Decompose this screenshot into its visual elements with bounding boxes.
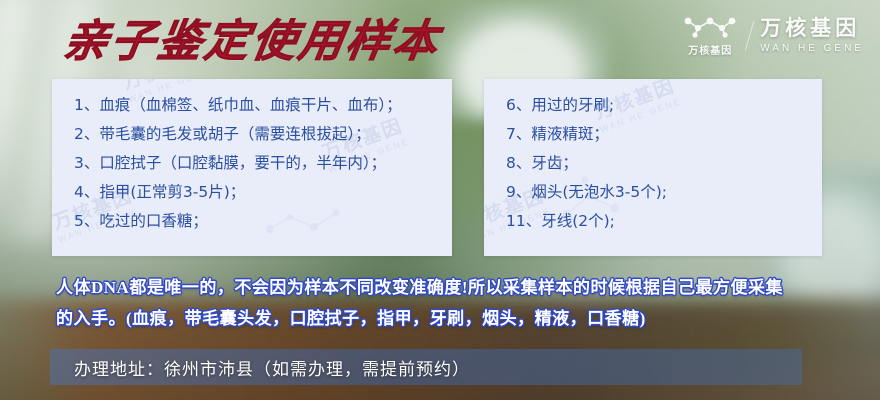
description-line-1: 人体DNA都是唯一的，不会因为样本不同改变准确度!所以采集样本的时候根据自己最方… <box>56 278 783 297</box>
brand-name-en: WAN HE GENE <box>760 44 864 54</box>
list-item: 1、血痕（血棉签、纸巾血、血痕干片、血布）； <box>74 91 452 120</box>
list-item: 9、烟头(无泡水3-5个); <box>506 178 822 207</box>
list-item: 11、牙线(2个); <box>506 207 822 236</box>
poster-root: 亲子鉴定使用样本 <box>0 0 880 400</box>
list-item: 8、牙齿； <box>506 149 822 178</box>
list-item: 4、指甲(正常剪3-5片)； <box>74 178 452 207</box>
brand-name: 万核基因 WAN HE GENE <box>760 18 864 54</box>
brand-name-cn: 万核基因 <box>760 18 864 39</box>
description-line-2: 的入手。(血痕，带毛囊头发，口腔拭子，指甲，牙刷，烟头，精液，口香糖) <box>56 303 846 334</box>
list-item: 5、吃过的口香糖； <box>74 207 452 236</box>
list-item: 6、用过的牙刷; <box>506 91 822 120</box>
brand-mark: 万核基因 <box>681 14 739 57</box>
description-paragraph: 人体DNA都是唯一的，不会因为样本不同改变准确度!所以采集样本的时候根据自己最方… <box>56 272 846 334</box>
page-title: 亲子鉴定使用样本 <box>60 16 444 68</box>
molecule-icon <box>681 14 739 40</box>
brand-logo: 万核基因 万核基因 WAN HE GENE <box>681 14 864 57</box>
sample-list-right: 6、用过的牙刷; 7、精液精斑； 8、牙齿； 9、烟头(无泡水3-5个); 11… <box>484 79 822 236</box>
sample-list-panel-left: 万核基因WAN HE GENE 万核基因WAN HE GENE 万核基因WAN … <box>52 79 452 256</box>
sample-list-left: 1、血痕（血棉签、纸巾血、血痕干片、血布）； 2、带毛囊的毛发或胡子（需要连根拔… <box>52 79 452 236</box>
list-item: 2、带毛囊的毛发或胡子（需要连根拔起）； <box>74 120 452 149</box>
address-bar: 办理地址：徐州市沛县（如需办理，需提前预约） <box>50 349 802 385</box>
list-item: 3、口腔拭子（口腔黏膜，要干的，半年内）； <box>74 149 452 178</box>
sample-list-panel-right: 万核基因WAN HE GENE 万核基因WAN HE GENE 6、用过的牙刷;… <box>484 79 822 256</box>
address-text: 办理地址：徐州市沛县（如需办理，需提前预约） <box>74 355 470 380</box>
brand-mark-label: 万核基因 <box>688 42 732 57</box>
list-item: 7、精液精斑； <box>506 120 822 149</box>
brand-divider <box>745 21 755 51</box>
